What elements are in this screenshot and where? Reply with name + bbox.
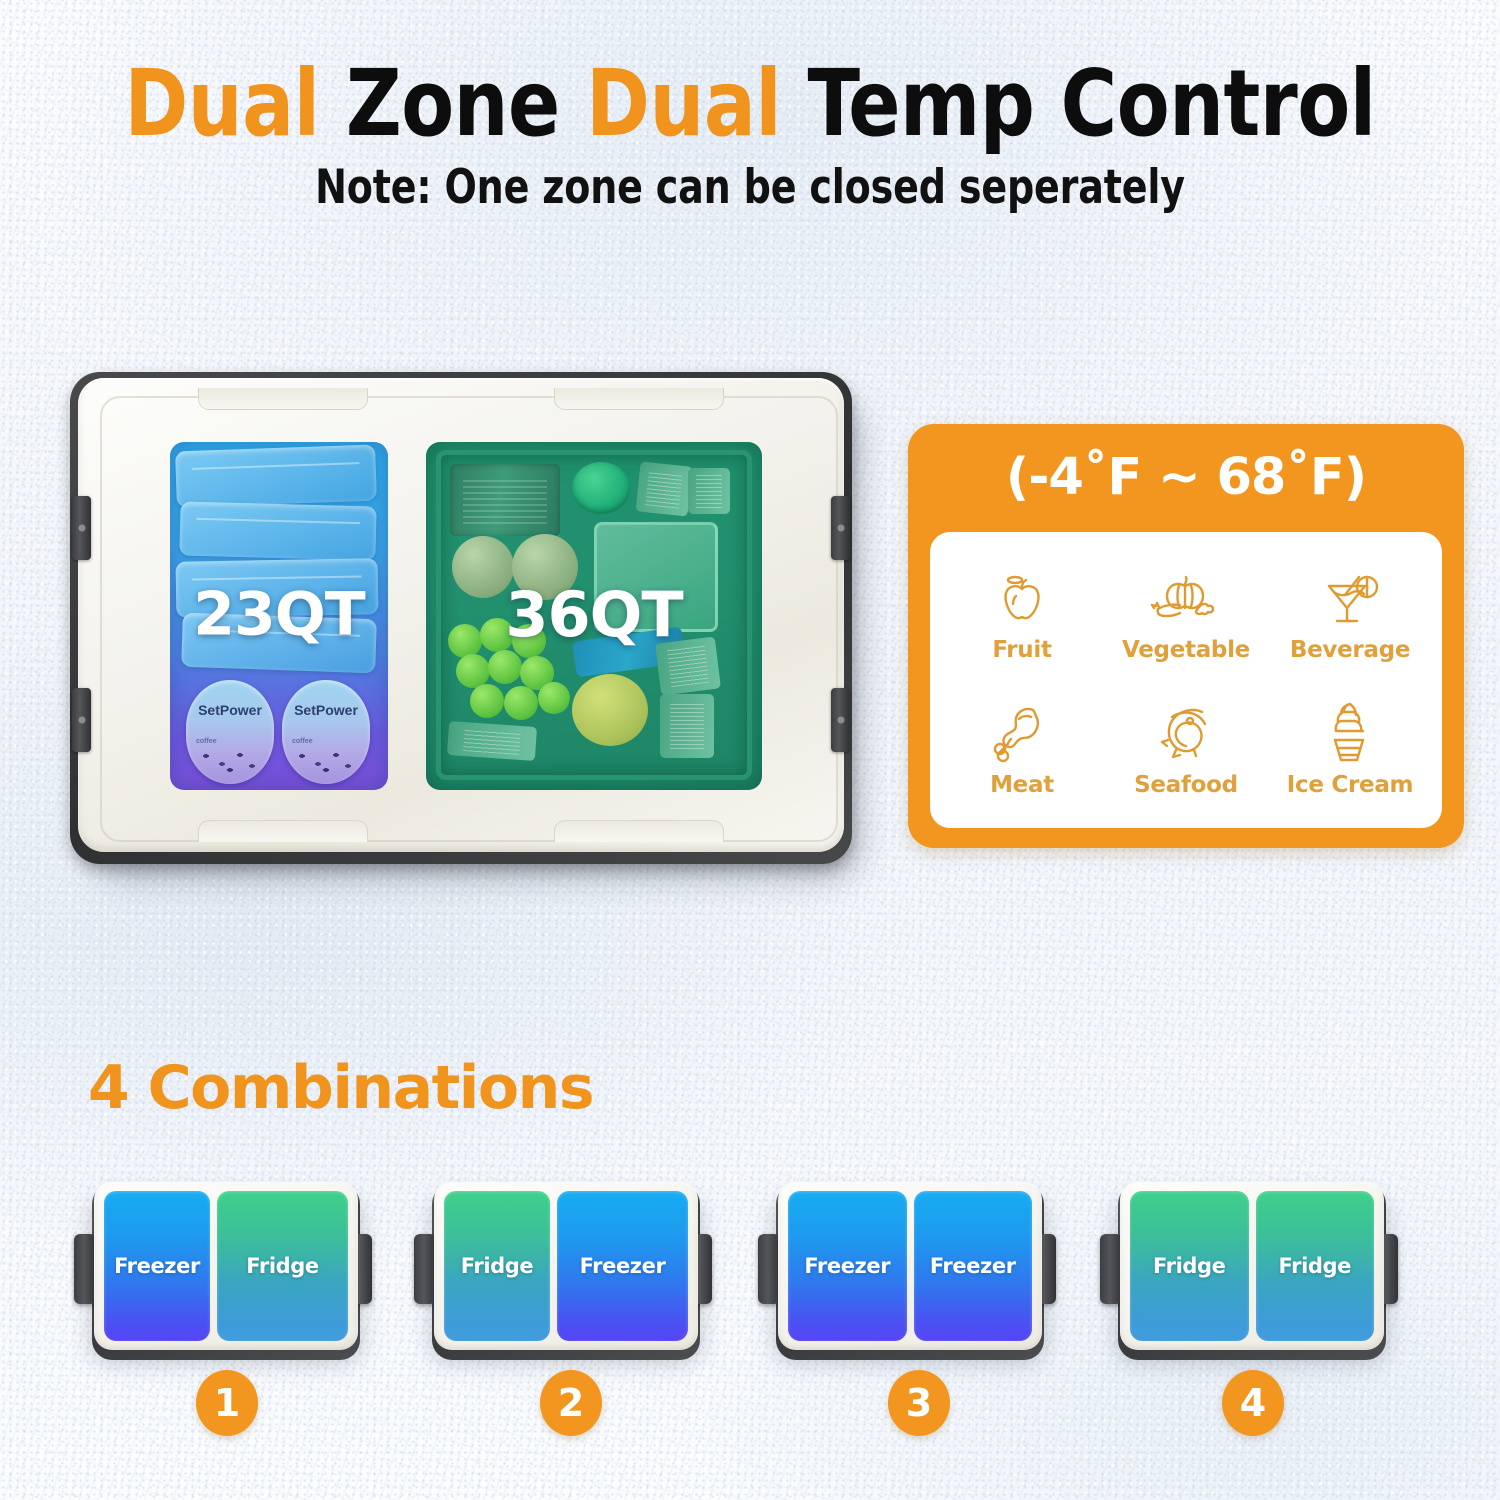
unit-3-zone-right[interactable]: Freezer: [914, 1191, 1033, 1341]
category-label: Beverage: [1290, 637, 1410, 663]
unit-4-zone-right[interactable]: Fridge: [1256, 1191, 1375, 1341]
setpower-coffee-pack: SetPower coffee: [282, 680, 370, 784]
unit-body: Freezer Freezer: [778, 1182, 1042, 1350]
setpower-brand-label: SetPower: [282, 702, 370, 718]
coffee-beans-graphic: [296, 750, 360, 776]
title-word-zone: Zone: [346, 58, 560, 150]
title-word-temp: Temp: [808, 58, 1035, 150]
zone-label: Fridge: [1153, 1254, 1225, 1278]
zone-label: Freezer: [580, 1254, 666, 1278]
unit-handle-left[interactable]: [1100, 1234, 1122, 1304]
cooler-product-image: SetPower coffee SetPower coffee 23QT: [70, 372, 860, 872]
zone-label: Freezer: [114, 1254, 200, 1278]
category-meat: Meat: [940, 698, 1104, 798]
right-capacity-label: 36QT: [426, 578, 762, 651]
title-word-dual-2: Dual: [586, 58, 781, 150]
category-vegetable: Vegetable: [1104, 567, 1268, 663]
combination-badge-2: 2: [540, 1370, 602, 1436]
unit-handle-left[interactable]: [414, 1234, 436, 1304]
unit-2-zone-left[interactable]: Fridge: [444, 1191, 550, 1341]
ice-pack: [175, 445, 377, 508]
combination-unit-2[interactable]: Fridge Freezer: [408, 1180, 718, 1370]
cooler-left-compartment: SetPower coffee SetPower coffee 23QT: [170, 442, 388, 790]
badge-number: 4: [1240, 1384, 1266, 1422]
food-category-grid: Fruit: [940, 548, 1432, 814]
badge-number: 1: [214, 1384, 240, 1422]
combinations-heading: 4 Combinations: [88, 1053, 593, 1123]
setpower-brand-label: SetPower: [186, 702, 274, 718]
unit-1-zone-left[interactable]: Freezer: [104, 1191, 210, 1341]
lid-notch-bottom-left: [198, 820, 368, 842]
lid-notch-bottom-right: [554, 820, 724, 842]
unit-4-zone-left[interactable]: Fridge: [1130, 1191, 1249, 1341]
page-subtitle-note: Note: One zone can be closed seperately: [75, 160, 1425, 215]
category-label: Vegetable: [1122, 637, 1250, 663]
unit-1-zone-right[interactable]: Fridge: [217, 1191, 348, 1341]
cooler-hinge-right-bottom: [831, 688, 850, 752]
unit-body: Freezer Fridge: [94, 1182, 358, 1350]
zone-label: Fridge: [1279, 1254, 1351, 1278]
infographic-page: Dual Zone Dual Temp Control Note: One zo…: [0, 0, 1500, 1500]
unit-body: Fridge Freezer: [434, 1182, 698, 1350]
lid-notch-top-left: [198, 388, 368, 410]
badge-number: 3: [906, 1384, 932, 1422]
pumpkin-carrot-icon: [1146, 567, 1226, 633]
category-seafood: Seafood: [1104, 698, 1268, 798]
cocktail-glass-icon: [1315, 567, 1385, 633]
lid-notch-top-right: [554, 388, 724, 410]
combination-badge-4: 4: [1222, 1370, 1284, 1436]
unit-handle-left[interactable]: [74, 1234, 96, 1304]
zone-label: Fridge: [461, 1254, 533, 1278]
cooler-hinge-left-top: [72, 496, 91, 560]
cooler-hinge-left-bottom: [72, 688, 91, 752]
category-label: Fruit: [992, 637, 1051, 663]
cooler-lid: SetPower coffee SetPower coffee 23QT: [78, 378, 844, 852]
category-ice-cream: Ice Cream: [1268, 698, 1432, 798]
title-word-dual-1: Dual: [124, 58, 319, 150]
left-capacity-label: 23QT: [170, 580, 388, 650]
combination-badge-3: 3: [888, 1370, 950, 1436]
category-fruit: Fruit: [940, 567, 1104, 663]
ice-cream-cone-icon: [1321, 698, 1379, 768]
ice-pack: [179, 501, 376, 560]
cooler-right-compartment: 36QT: [426, 442, 762, 790]
badge-number: 2: [558, 1384, 584, 1422]
cooler-hinge-right-top: [831, 496, 850, 560]
category-label: Seafood: [1134, 772, 1238, 798]
combination-unit-1[interactable]: Freezer Fridge: [68, 1180, 378, 1370]
coffee-beans-graphic: [200, 750, 264, 776]
combination-unit-4[interactable]: Fridge Fridge: [1094, 1180, 1404, 1370]
zone-label: Fridge: [246, 1254, 318, 1278]
zone-label: Freezer: [930, 1254, 1016, 1278]
food-category-card: Fruit: [930, 532, 1442, 828]
title-word-control: Control: [1061, 58, 1376, 150]
category-label: Ice Cream: [1287, 772, 1413, 798]
shrimp-icon: [1150, 698, 1222, 768]
unit-3-zone-left[interactable]: Freezer: [788, 1191, 907, 1341]
unit-2-zone-right[interactable]: Freezer: [557, 1191, 688, 1341]
page-title: Dual Zone Dual Temp Control: [53, 58, 1448, 150]
temperature-range-panel: (-4˚F ~ 68˚F) Fruit: [908, 424, 1464, 848]
zone-label: Freezer: [804, 1254, 890, 1278]
unit-handle-left[interactable]: [758, 1234, 780, 1304]
setpower-coffee-pack: SetPower coffee: [186, 680, 274, 784]
temperature-range-label: (-4˚F ~ 68˚F): [908, 448, 1464, 507]
unit-body: Fridge Fridge: [1120, 1182, 1384, 1350]
category-label: Meat: [990, 772, 1054, 798]
setpower-sub-label: coffee: [196, 738, 217, 745]
apple-icon: [989, 567, 1055, 633]
category-beverage: Beverage: [1268, 567, 1432, 663]
combination-unit-3[interactable]: Freezer Freezer: [752, 1180, 1062, 1370]
setpower-sub-label: coffee: [292, 738, 313, 745]
combination-badge-1: 1: [196, 1370, 258, 1436]
drumstick-icon: [989, 698, 1055, 768]
